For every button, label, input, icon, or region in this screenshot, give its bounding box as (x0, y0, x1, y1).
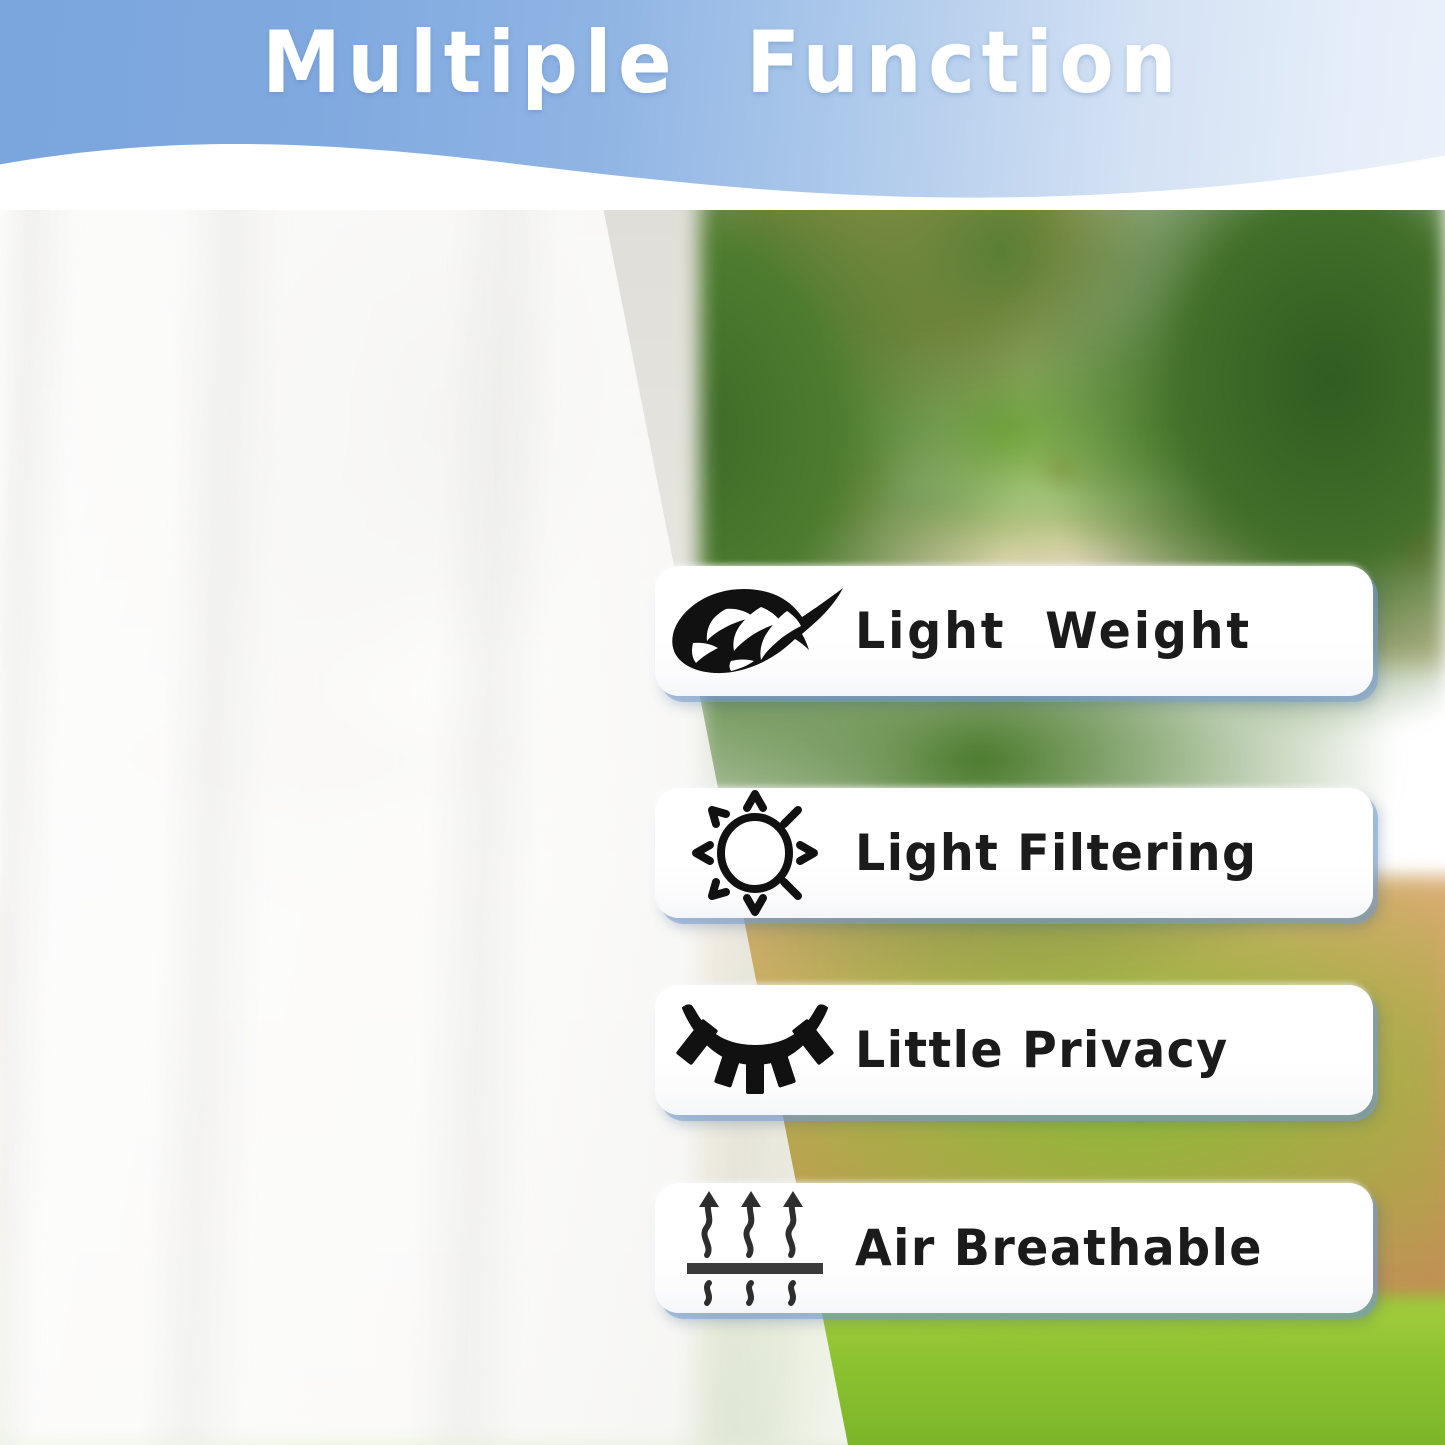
feature-card-light-weight[interactable]: Light Weight (655, 566, 1373, 696)
feature-label: Air Breathable (855, 1219, 1263, 1277)
closed-eye-icon (655, 985, 855, 1115)
product-infographic: Multiple Function Light Weight (0, 0, 1445, 1445)
feature-card-little-privacy[interactable]: Little Privacy (655, 985, 1373, 1115)
feature-card-light-filtering[interactable]: Light Filtering (655, 788, 1373, 918)
sun-icon (655, 788, 855, 918)
feature-card-air-breathable[interactable]: Air Breathable (655, 1183, 1373, 1313)
feature-label: Light Filtering (855, 824, 1257, 882)
feature-label: Little Privacy (855, 1021, 1229, 1079)
air-flow-icon (655, 1183, 855, 1313)
feature-label: Light Weight (855, 602, 1252, 660)
feature-card-list: Light Weight (0, 0, 1445, 1445)
feather-icon (655, 566, 855, 696)
